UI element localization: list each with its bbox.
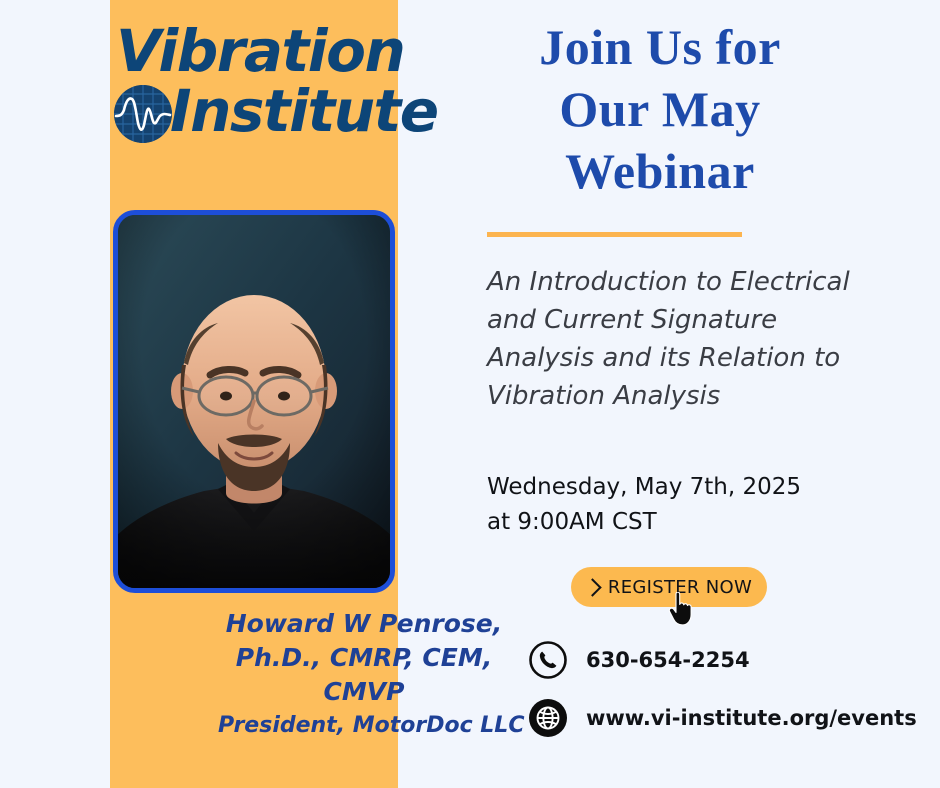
register-button-label: REGISTER NOW [608,577,752,598]
logo-second-row: Institute [114,79,414,145]
headline-line-1: Join Us for [440,16,880,78]
register-now-button[interactable]: REGISTER NOW [571,567,767,607]
page-title: Join Us for Our May Webinar [440,16,880,202]
waveform-circle-icon [114,85,172,143]
webinar-title: An Introduction to Electrical and Curren… [487,263,887,415]
headline-line-3: Webinar [440,140,880,202]
contact-phone-row[interactable]: 630-654-2254 [528,640,750,680]
event-datetime: Wednesday, May 7th, 2025 at 9:00AM CST [487,470,887,540]
webinar-poster: Vibration [0,0,940,788]
logo-word-vibration: Vibration [116,22,404,80]
speaker-portrait [113,210,395,593]
right-content-column: Join Us for Our May Webinar An Introduct… [440,0,940,788]
phone-icon [528,640,568,680]
accent-divider [487,232,742,237]
chevron-right-icon [583,578,601,596]
contact-website-row[interactable]: www.vi-institute.org/events [528,698,917,738]
vibration-institute-logo: Vibration [110,22,398,162]
headline-line-2: Our May [440,78,880,140]
event-time-line: at 9:00AM CST [487,505,887,540]
logo-word-institute: Institute [170,78,438,145]
event-date-line: Wednesday, May 7th, 2025 [487,470,887,505]
phone-number: 630-654-2254 [586,648,750,672]
website-url: www.vi-institute.org/events [586,706,917,730]
globe-icon [528,698,568,738]
